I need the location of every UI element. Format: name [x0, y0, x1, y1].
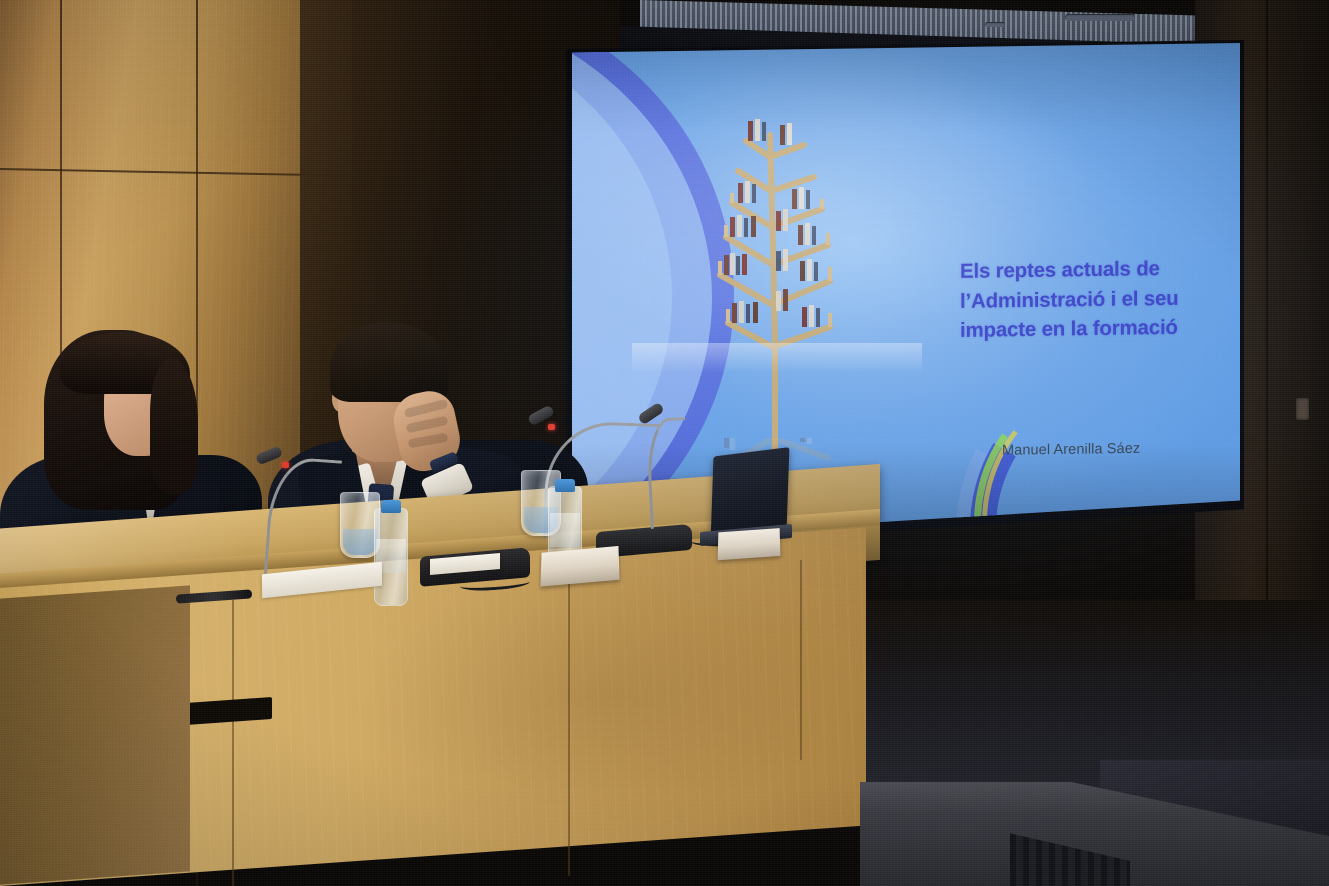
- bottle-label: [550, 513, 580, 547]
- microphone-indicator-led: [282, 462, 289, 468]
- ceiling-vent-icon: [985, 22, 1005, 27]
- microphone-indicator-led: [548, 424, 555, 430]
- slide-reflection-band: [632, 343, 922, 373]
- slide-title: Els reptes actuals de l’Administració i …: [960, 253, 1232, 346]
- nameplate-left-label: [545, 562, 615, 568]
- water-level: [343, 529, 377, 555]
- panel-desk-side: [0, 585, 190, 886]
- slide-title-line: impacte en la formació: [960, 313, 1232, 347]
- book-tree-graphic: [680, 95, 870, 495]
- wall-switch-plate: [1296, 398, 1309, 420]
- slide-author: Manuel Arenilla Sáez: [1002, 439, 1240, 458]
- ceiling-vent-icon: [1065, 14, 1135, 21]
- water-bottle: [374, 508, 408, 606]
- conference-photo-scene: Els reptes actuals de l’Administració i …: [0, 0, 1329, 886]
- bottle-cap: [555, 479, 575, 492]
- desk-seam: [232, 600, 234, 886]
- nameplate-left: [540, 546, 619, 587]
- slide-title-line: Els reptes actuals de: [960, 253, 1232, 287]
- slide-title-line: l’Administració i el seu: [960, 283, 1232, 317]
- nameplate-right-label: [722, 541, 776, 545]
- hair-side: [150, 358, 198, 494]
- desk-seam: [568, 576, 570, 876]
- nameplate-right: [718, 528, 781, 560]
- bottle-cap: [381, 500, 401, 513]
- desk-seam: [800, 560, 802, 760]
